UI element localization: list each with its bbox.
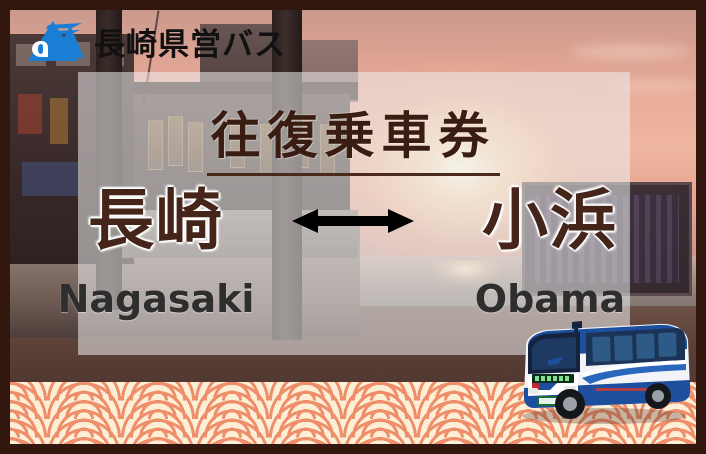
brand-header: 長崎県営バス — [10, 10, 286, 72]
romaji-spacer — [292, 280, 414, 318]
logo-swoosh-icon — [28, 21, 86, 61]
cloud-shape — [570, 44, 690, 60]
route-destination-romaji: Obama — [430, 280, 670, 318]
route-destination-jp: 小浜 — [430, 188, 670, 254]
double-headed-arrow-icon — [292, 208, 414, 234]
route-origin-jp: 長崎 — [36, 188, 276, 254]
nagasaki-bus-triangle-logo-icon — [28, 21, 86, 61]
round-trip-ticket-card: 長崎県営バス 往復乗車券 長崎 小浜 Nagasaki Obama — [0, 0, 706, 454]
route-origin-romaji: Nagasaki — [36, 280, 276, 318]
ticket-title-area: 往復乗車券 — [10, 96, 696, 176]
route-japanese-row: 長崎 小浜 — [10, 188, 696, 254]
route-romaji-row: Nagasaki Obama — [10, 280, 696, 318]
highway-coach-bus-photo — [508, 316, 694, 426]
company-name: 長崎県営バス — [94, 19, 286, 64]
ticket-title: 往復乗車券 — [207, 96, 500, 176]
